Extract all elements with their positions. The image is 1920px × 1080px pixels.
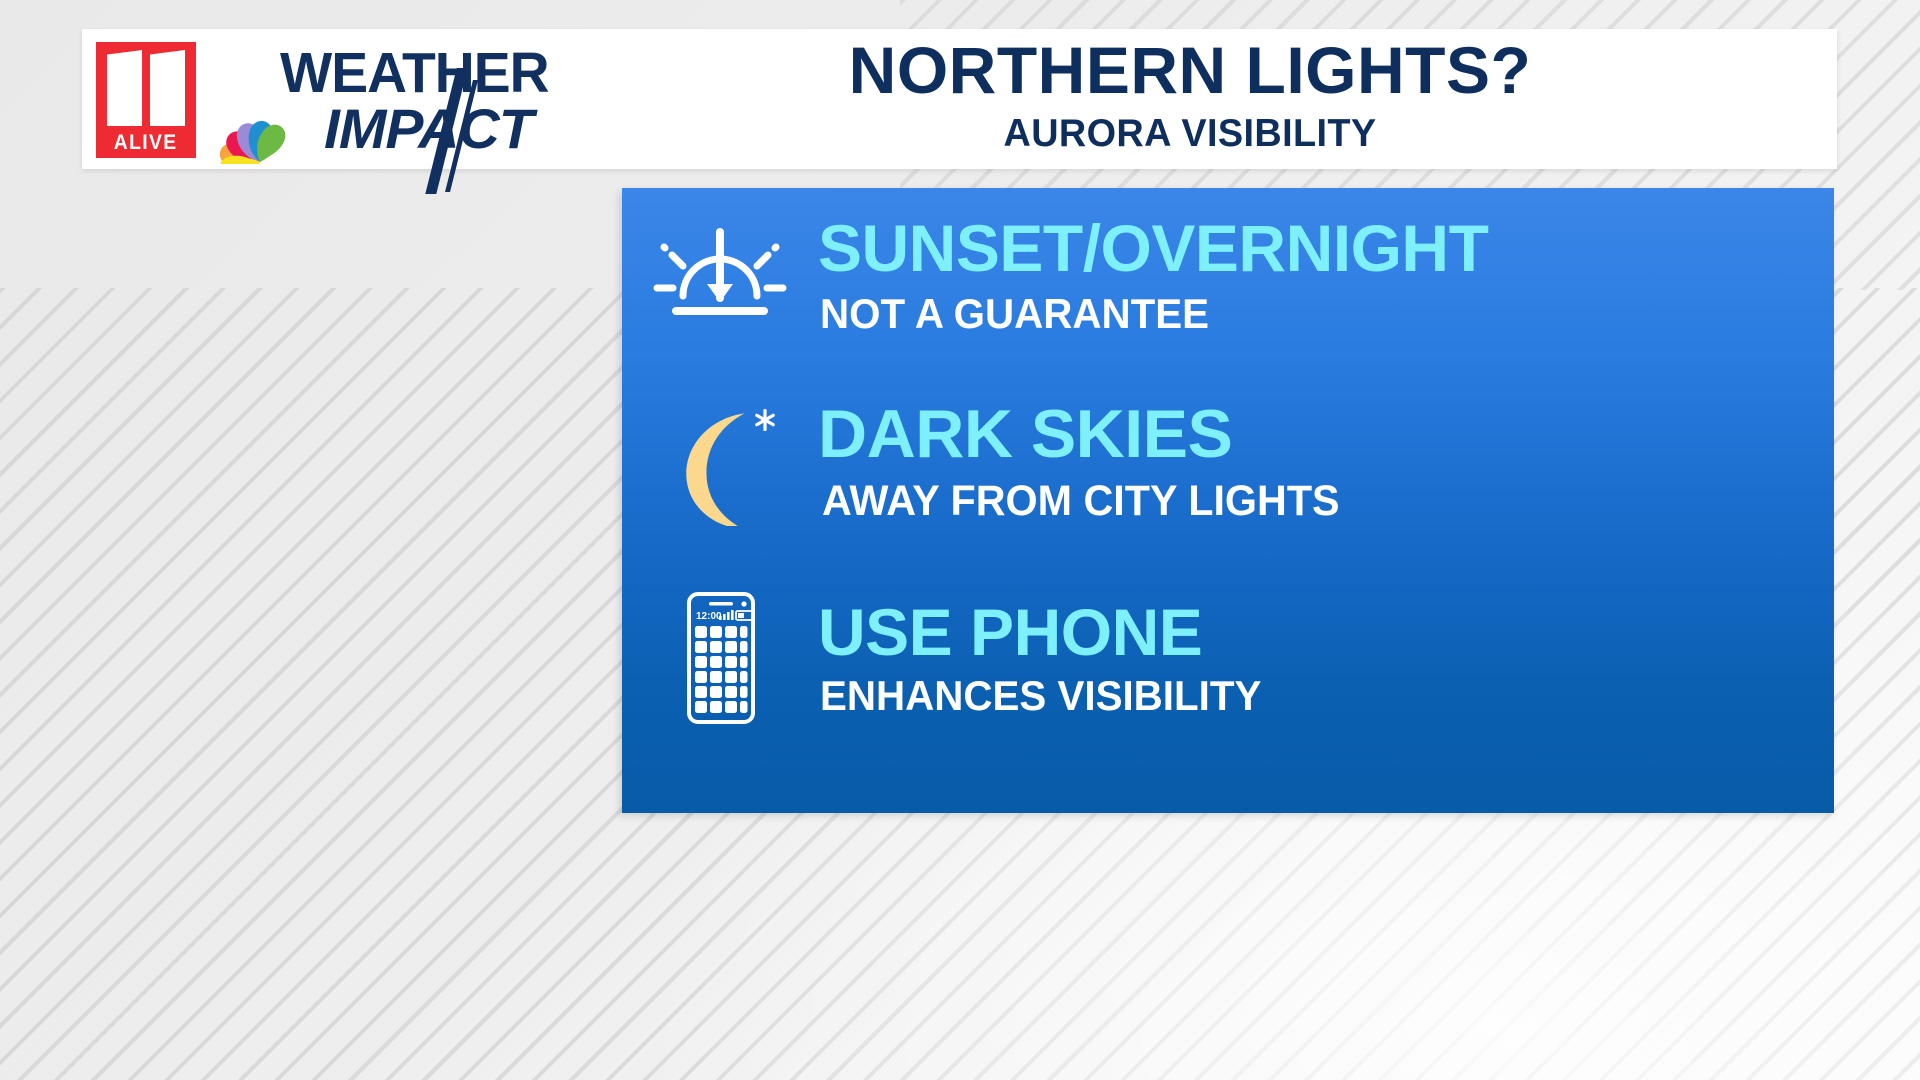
tip-row-use-phone: 12:00: [622, 588, 1834, 728]
eleven-bars-icon: [107, 50, 185, 126]
eleven-bar-left: [107, 50, 142, 126]
tip-title-sunset: SUNSET/OVERNIGHT: [818, 215, 1834, 281]
page-subtitle: AURORA VISIBILITY: [657, 113, 1724, 155]
tip-title-use-phone: USE PHONE: [818, 599, 1834, 665]
aurora-tips-panel: SUNSET/OVERNIGHT NOT A GUARANTEE DARK SK…: [622, 188, 1834, 813]
smartphone-icon: 12:00: [622, 588, 818, 728]
tip-text-dark-skies: DARK SKIES AWAY FROM CITY LIGHTS: [818, 400, 1834, 523]
tip-text-use-phone: USE PHONE ENHANCES VISIBILITY: [818, 599, 1834, 717]
tip-subtitle-dark-skies: AWAY FROM CITY LIGHTS: [822, 480, 1794, 523]
tip-row-dark-skies: DARK SKIES AWAY FROM CITY LIGHTS: [622, 396, 1834, 526]
weather-impact-line2: IMPACT: [324, 96, 533, 161]
tip-subtitle-use-phone: ENHANCES VISIBILITY: [820, 675, 1793, 717]
crescent-moon-icon: [622, 396, 818, 526]
eleven-bar-right: [150, 50, 185, 126]
broadcast-graphic: ALIVE: [0, 0, 1920, 1080]
weather-impact-wordmark: WEATHER IMPACT: [274, 38, 634, 158]
station-logo-alive-text: ALIVE: [114, 131, 178, 155]
tip-row-sunset: SUNSET/OVERNIGHT NOT A GUARANTEE: [622, 210, 1834, 340]
page-title: NORTHERN LIGHTS?: [640, 34, 1740, 106]
tip-text-sunset: SUNSET/OVERNIGHT NOT A GUARANTEE: [818, 215, 1834, 335]
station-logo-11alive: ALIVE: [96, 42, 196, 158]
phone-clock-text: 12:00: [696, 611, 722, 622]
sunset-icon: [622, 210, 818, 340]
tip-subtitle-sunset: NOT A GUARANTEE: [820, 293, 1793, 335]
tip-title-dark-skies: DARK SKIES: [818, 400, 1834, 468]
